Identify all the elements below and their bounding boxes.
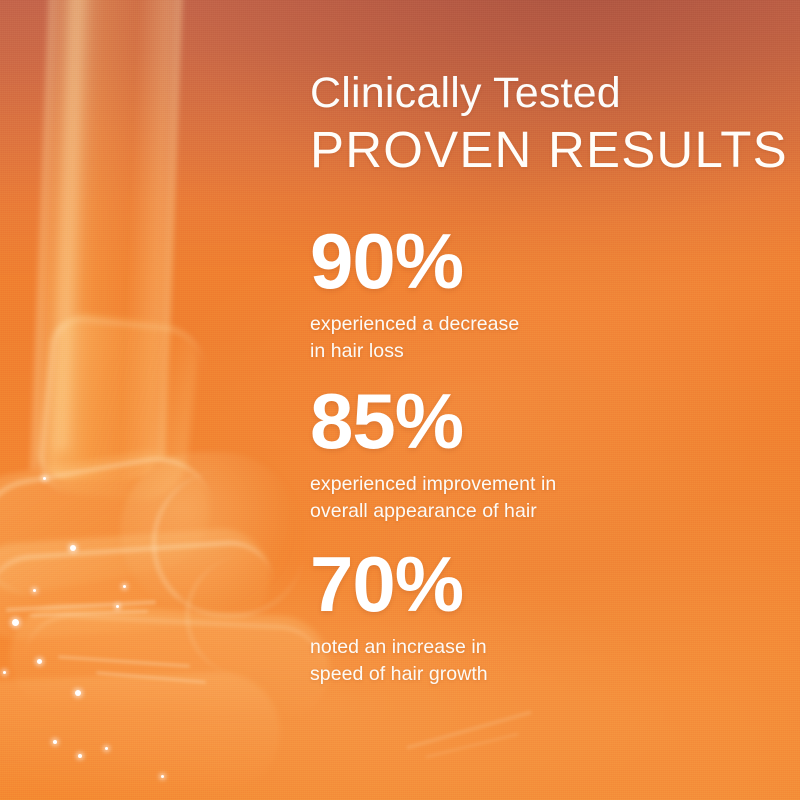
stat-block-2: 85% experienced improvement in overall a… xyxy=(310,384,780,525)
sparkle-icon xyxy=(33,589,36,592)
stat-description-line: noted an increase in xyxy=(310,634,780,661)
stat-percentage-1: 90% xyxy=(310,224,780,299)
sparkle-icon xyxy=(75,690,81,696)
stat-description-line: overall appearance of hair xyxy=(310,498,780,525)
stat-description-1: experienced a decrease in hair loss xyxy=(310,311,780,365)
stat-description-line: experienced a decrease xyxy=(310,311,780,338)
sparkle-icon xyxy=(116,605,119,608)
sparkle-icon xyxy=(161,775,164,778)
sparkle-icon xyxy=(37,659,42,664)
stat-block-1: 90% experienced a decrease in hair loss xyxy=(310,224,780,365)
sparkle-icon xyxy=(123,585,126,588)
page-title: PROVEN RESULTS xyxy=(310,124,780,175)
sparkle-icon xyxy=(12,619,19,626)
sparkle-icon xyxy=(70,545,76,551)
stat-description-line: experienced improvement in xyxy=(310,471,780,498)
gel-coil-rim xyxy=(186,556,319,676)
sparkle-icon xyxy=(105,747,108,750)
headline-block: Clinically Tested PROVEN RESULTS xyxy=(310,72,780,175)
promotional-poster: Clinically Tested PROVEN RESULTS 90% exp… xyxy=(0,0,800,800)
stat-description-line: speed of hair growth xyxy=(310,661,780,688)
sparkle-icon xyxy=(53,740,57,744)
stat-description-line: in hair loss xyxy=(310,338,780,365)
poster-text-content: Clinically Tested PROVEN RESULTS 90% exp… xyxy=(310,0,780,800)
stat-description-2: experienced improvement in overall appea… xyxy=(310,471,780,525)
sparkle-icon xyxy=(43,477,46,480)
sparkle-icon xyxy=(3,671,6,674)
headline-line-1: Clinically Tested xyxy=(310,72,780,115)
stat-description-3: noted an increase in speed of hair growt… xyxy=(310,634,780,688)
stat-percentage-3: 70% xyxy=(310,547,780,622)
sparkle-icon xyxy=(78,754,82,758)
stat-percentage-2: 85% xyxy=(310,384,780,459)
stat-block-3: 70% noted an increase in speed of hair g… xyxy=(310,547,780,688)
